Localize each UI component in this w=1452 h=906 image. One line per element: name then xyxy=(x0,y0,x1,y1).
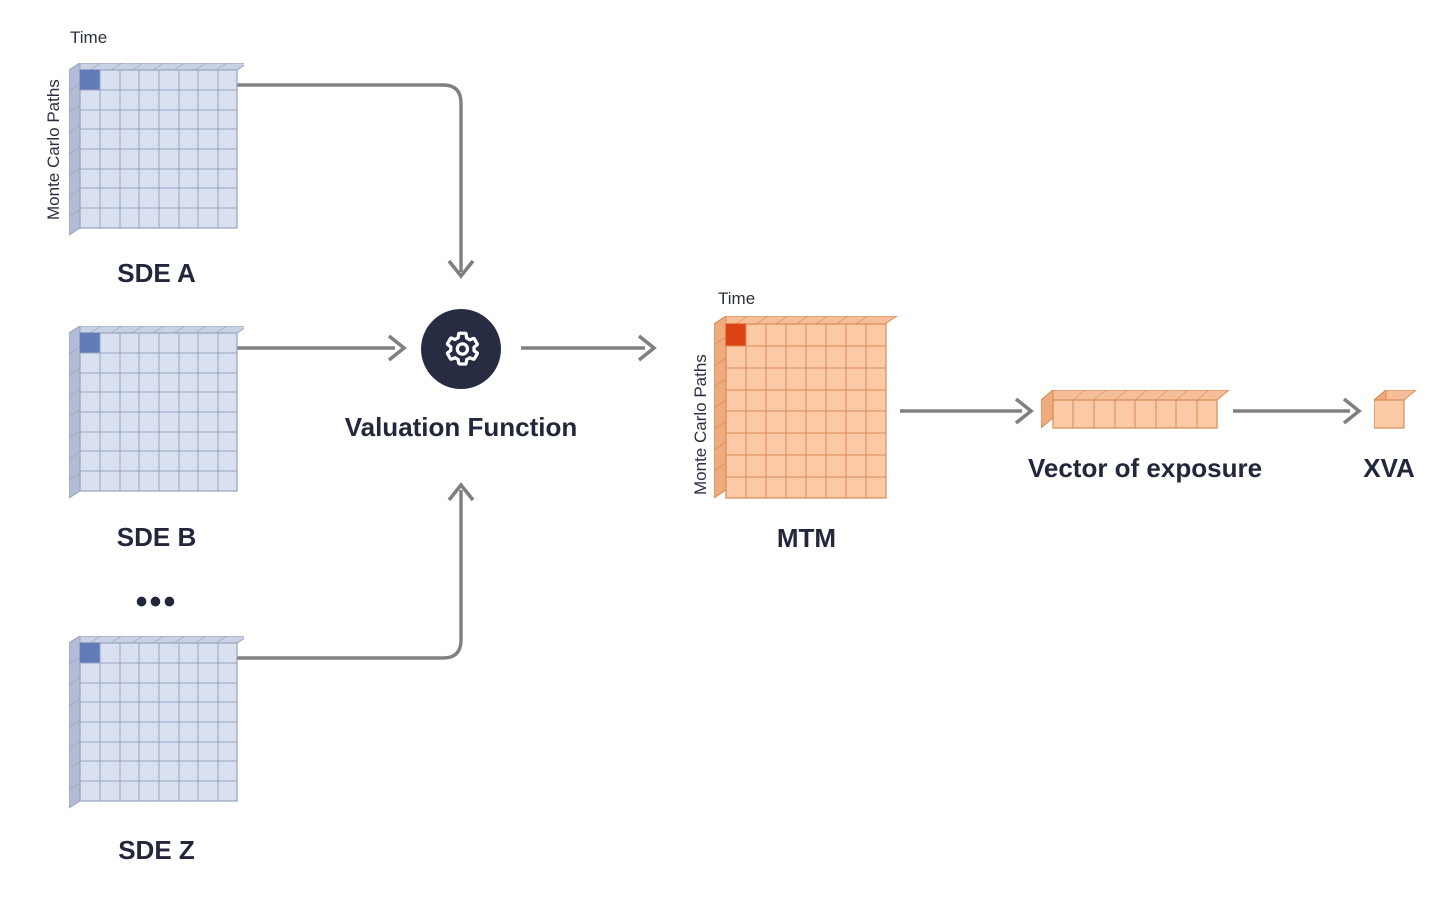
sde-z-cube xyxy=(69,636,244,816)
node-xva xyxy=(1374,390,1420,441)
node-mtm xyxy=(714,316,899,513)
connector-vector-to-xva xyxy=(1233,399,1359,423)
sde-a-axis-top-label: Time xyxy=(70,29,107,46)
gear-icon xyxy=(440,328,482,370)
sde-a-axis-left-label: Monte Carlo Paths xyxy=(45,79,62,220)
node-sde-a xyxy=(69,63,244,248)
sde-ellipsis: ••• xyxy=(69,585,244,619)
sde-z-title: SDE Z xyxy=(69,837,244,863)
sde-b-title: SDE B xyxy=(69,524,244,550)
mtm-cube xyxy=(714,316,899,508)
xva-title: XVA xyxy=(1326,455,1452,481)
valuation-function-title: Valuation Function xyxy=(291,414,631,440)
mtm-title: MTM xyxy=(714,525,899,551)
mtm-axis-left-label: Monte Carlo Paths xyxy=(692,354,709,495)
connector-valuation-to-mtm xyxy=(521,336,654,360)
connector-mtm-to-vector xyxy=(900,399,1031,423)
sde-b-cube xyxy=(69,326,244,506)
diagram-canvas: .conn { fill:none; stroke:#808080; strok… xyxy=(0,0,1452,906)
vector-of-exposure-title: Vector of exposure xyxy=(1016,455,1274,481)
node-sde-z xyxy=(69,636,244,821)
mtm-axis-top-label: Time xyxy=(718,290,755,307)
sde-a-cube xyxy=(69,63,244,243)
vector-of-exposure-bar xyxy=(1041,390,1231,436)
node-sde-b xyxy=(69,326,244,511)
sde-a-title: SDE A xyxy=(69,260,244,286)
node-vector-of-exposure xyxy=(1041,390,1231,441)
xva-cube xyxy=(1374,390,1420,436)
valuation-function-badge[interactable] xyxy=(421,309,501,389)
